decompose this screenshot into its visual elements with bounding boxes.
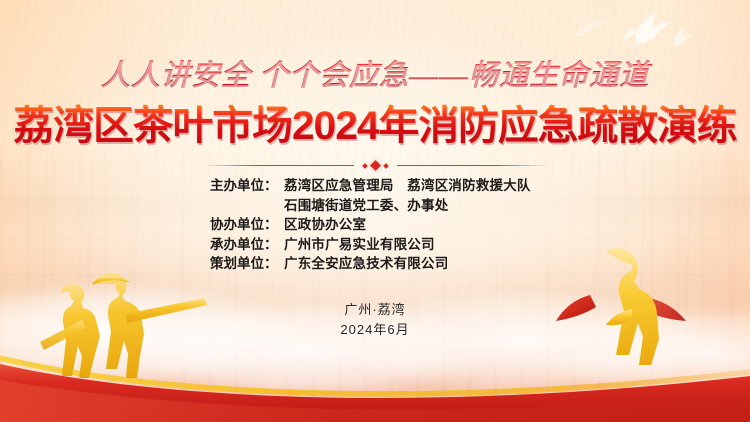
footer-date: 2024年6月	[0, 320, 750, 340]
organizer-label: 策划单位：	[210, 254, 284, 274]
ornament-dot-left	[362, 163, 368, 169]
organizer-label: 协办单位：	[210, 215, 284, 235]
organizer-line: 策划单位： 广东全安应急技术有限公司	[210, 254, 540, 274]
divider-line-left	[202, 165, 354, 167]
organizer-value: 广州市广易实业有限公司	[284, 235, 540, 255]
page-title: 荔湾区茶叶市场2024年消防应急疏散演练	[0, 103, 750, 149]
diamond-ornament-icon	[363, 160, 388, 171]
organizers-block: 主办单位： 荔湾区应急管理局 荔湾区消防救援大队 主办单位： 石围塘街道党工委、…	[0, 176, 750, 274]
poster-canvas: 人人讲安全 个个会应急——畅通生命通道 荔湾区茶叶市场2024年消防应急疏散演练…	[0, 0, 750, 422]
organizer-label: 主办单位：	[210, 176, 284, 196]
organizer-line: 承办单位： 广州市广易实业有限公司	[210, 235, 540, 255]
slogan-text: 人人讲安全 个个会应急——畅通生命通道	[0, 52, 750, 94]
organizer-line: 主办单位： 石围塘街道党工委、办事处	[210, 196, 540, 216]
organizer-line: 主办单位： 荔湾区应急管理局 荔湾区消防救援大队	[210, 176, 540, 196]
organizer-value: 荔湾区应急管理局 荔湾区消防救援大队	[284, 176, 540, 196]
organizer-label: 承办单位：	[210, 235, 284, 255]
ornament-diamond	[367, 158, 383, 174]
organizer-value: 石围塘街道党工委、办事处	[284, 196, 540, 216]
divider-ornament	[0, 160, 750, 171]
organizer-value: 广东全安应急技术有限公司	[284, 254, 540, 274]
divider-line-right	[397, 165, 549, 167]
footer-location: 广州·荔湾	[0, 300, 750, 320]
footer-block: 广州·荔湾 2024年6月	[0, 300, 750, 340]
organizer-line: 协办单位： 区政协办公室	[210, 215, 540, 235]
organizer-value: 区政协办公室	[284, 215, 540, 235]
poster-content: 人人讲安全 个个会应急——畅通生命通道 荔湾区茶叶市场2024年消防应急疏散演练…	[0, 0, 750, 422]
ornament-dot-right	[383, 163, 389, 169]
organizers-list: 主办单位： 荔湾区应急管理局 荔湾区消防救援大队 主办单位： 石围塘街道党工委、…	[210, 176, 540, 274]
